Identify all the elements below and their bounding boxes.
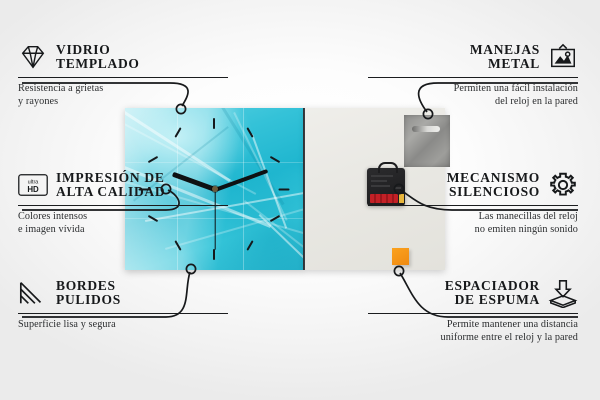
gear-icon (548, 170, 578, 200)
ultra-hd-icon: ultra HD (18, 170, 48, 200)
polished-edges-icon (18, 278, 48, 308)
title-underline (18, 205, 228, 206)
diamond-icon (18, 42, 48, 72)
feature-vidrio-templado: VIDRIO TEMPLADO Resistencia a grietas y … (18, 42, 228, 108)
metal-hanging-bracket (404, 115, 450, 167)
picture-frame-hook-icon (548, 42, 578, 72)
feature-manejas-metal: MANEJAS METAL Permiten una fácil instala… (368, 42, 578, 108)
feature-title: ESPACIADOR DE ESPUMA (445, 279, 540, 308)
infographic-canvas: VIDRIO TEMPLADO Resistencia a grietas y … (0, 0, 600, 400)
feature-title: BORDES PULIDOS (56, 279, 121, 308)
feature-title: VIDRIO TEMPLADO (56, 43, 140, 72)
feature-title: MECANISMO SILENCIOSO (447, 171, 540, 200)
feature-description: Superficie lisa y segura (18, 319, 228, 331)
bracket-slot (412, 126, 440, 132)
orange-foam-spacer (392, 248, 409, 265)
title-underline (368, 205, 578, 206)
feature-bordes-pulidos: BORDES PULIDOS Superficie lisa y segura (18, 278, 228, 332)
foam-spacer-arrow-icon (548, 278, 578, 308)
feature-title: MANEJAS METAL (470, 43, 540, 72)
title-underline (368, 313, 578, 314)
title-underline (18, 77, 228, 78)
feature-title: IMPRESIÓN DE ALTA CALIDAD (56, 171, 165, 200)
svg-text:HD: HD (27, 185, 39, 194)
feature-mecanismo-silencioso: MECANISMO SILENCIOSO Las manecillas del … (368, 170, 578, 236)
feature-description: Permite mantener una distancia uniforme … (368, 319, 578, 344)
feature-impresion-alta-calidad: ultra HD IMPRESIÓN DE ALTA CALIDAD Color… (18, 170, 228, 236)
feature-description: Permiten una fácil instalación del reloj… (368, 83, 578, 108)
feature-description: Resistencia a grietas y rayones (18, 83, 228, 108)
title-underline (368, 77, 578, 78)
feature-espaciador-espuma: ESPACIADOR DE ESPUMA Permite mantener un… (368, 278, 578, 344)
title-underline (18, 313, 228, 314)
feature-description: Las manecillas del reloj no emiten ningú… (368, 211, 578, 236)
feature-description: Colores intensos e imagen vívida (18, 211, 228, 236)
